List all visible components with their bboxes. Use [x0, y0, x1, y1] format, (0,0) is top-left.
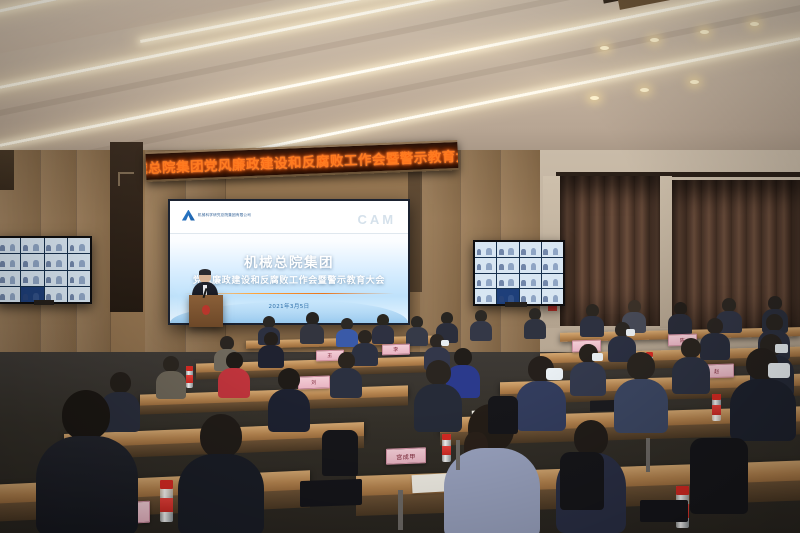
- downlight: [600, 46, 609, 50]
- video-cell: [542, 274, 563, 289]
- nameplate: 宫成甲: [386, 447, 426, 465]
- desk-leg: [398, 490, 403, 530]
- video-cell: [45, 254, 67, 269]
- attendee-body: [178, 454, 264, 533]
- attendee-head: [768, 296, 782, 310]
- video-cell: [475, 274, 496, 289]
- speaker-hair: [199, 269, 211, 275]
- downlight: [640, 88, 649, 92]
- face-mask: [441, 340, 449, 346]
- attendee-body: [470, 321, 492, 341]
- attendee-head: [426, 360, 451, 385]
- monitor-stand: [34, 300, 54, 305]
- face-mask: [626, 329, 635, 336]
- attendee: [524, 308, 546, 338]
- video-cell: [542, 258, 563, 273]
- video-cell: [497, 274, 518, 289]
- attendee-body: [672, 357, 710, 394]
- water-bottle: [186, 366, 193, 388]
- nameplate-text: 李: [393, 346, 399, 353]
- right-video-wall: [473, 240, 565, 306]
- attendee-head: [163, 356, 179, 372]
- slide-title: 机械总院集团: [170, 251, 408, 271]
- video-cell: [0, 238, 20, 253]
- company-logo-icon: [182, 210, 195, 221]
- chair: [488, 396, 518, 434]
- chair: [690, 438, 748, 514]
- attendee-head: [338, 352, 355, 369]
- attendee-body: [570, 362, 606, 396]
- attendee-body: [668, 314, 692, 335]
- attendee: [672, 338, 710, 392]
- wall-edge: [0, 150, 14, 190]
- attendee-head: [722, 298, 736, 312]
- nameplate-text: 赵: [714, 367, 720, 374]
- tote-bag: [640, 500, 688, 522]
- water-bottle: [160, 480, 173, 522]
- slide-logo-text: 机械科学研究总院集团有限公司: [198, 213, 251, 218]
- attendee-head: [278, 368, 300, 390]
- wall-bracket: [118, 172, 134, 174]
- video-cell: [542, 242, 563, 257]
- chair: [322, 430, 358, 476]
- video-cell: [542, 289, 563, 304]
- video-cell: [45, 238, 67, 253]
- attendee: [268, 368, 310, 430]
- video-cell: [520, 258, 541, 273]
- attendee-body: [36, 436, 138, 533]
- attendee-head: [200, 414, 242, 458]
- video-cell: [21, 254, 43, 269]
- chair: [560, 452, 604, 510]
- attendee-body: [156, 371, 186, 399]
- slide-logo: 机械科学研究总院集团有限公司: [182, 210, 251, 221]
- desk-leg: [646, 438, 650, 472]
- attendee: [300, 312, 324, 342]
- attendee-foreground: [36, 390, 138, 533]
- video-grid: [0, 238, 90, 302]
- attendee: [668, 302, 692, 334]
- attendee-body: [524, 319, 546, 339]
- laptop-bag: [300, 479, 362, 507]
- attendee-foreground: [178, 414, 264, 533]
- attendee-body: [580, 316, 604, 337]
- nameplate-text: 刘: [311, 379, 317, 386]
- wall-column: [110, 142, 143, 312]
- conference-hall-photo: 机械总院集团党风廉政建设和反腐败工作会暨警示教育大会 机械科学研究总院集团有限公…: [0, 0, 800, 533]
- video-cell: [475, 258, 496, 273]
- downlight: [650, 38, 659, 42]
- attendee-head: [627, 352, 655, 380]
- video-grid: [475, 242, 563, 304]
- video-cell: [21, 271, 43, 286]
- bottle-cap: [160, 480, 173, 489]
- bottle-label: [160, 498, 173, 512]
- attendee: [258, 332, 284, 366]
- bottle-cap: [676, 486, 689, 495]
- podium: [189, 295, 223, 327]
- attendee-body: [730, 379, 796, 441]
- video-cell: [68, 254, 90, 269]
- wall-bracket: [118, 172, 120, 186]
- downlight: [590, 96, 599, 100]
- video-cell: [520, 242, 541, 257]
- attendee-head: [226, 352, 243, 369]
- bottle-cap: [712, 394, 721, 400]
- face-mask: [592, 353, 603, 361]
- downlight: [700, 30, 709, 34]
- attendee: [614, 352, 668, 430]
- desk-leg: [456, 440, 460, 470]
- attendee-head: [681, 338, 701, 358]
- attendee: [218, 352, 250, 396]
- face-mask: [768, 363, 790, 378]
- attendee: [730, 348, 796, 438]
- left-video-wall: [0, 236, 92, 304]
- attendee-body: [300, 324, 324, 344]
- podium-emblem: [202, 305, 210, 315]
- attendee-head: [358, 330, 372, 344]
- bottle-cap: [186, 366, 193, 371]
- attendee-body: [268, 389, 310, 432]
- attendee-body: [218, 368, 250, 398]
- attendee-head: [574, 420, 608, 456]
- bottle-label: [712, 405, 721, 414]
- video-cell: [475, 289, 496, 304]
- attendee-head: [766, 314, 783, 331]
- attendee-body: [258, 345, 284, 368]
- video-cell: [21, 238, 43, 253]
- video-cell: [68, 287, 90, 302]
- attendee: [580, 304, 604, 336]
- attendee: [470, 310, 492, 340]
- video-cell: [475, 242, 496, 257]
- slide-watermark: CAM: [358, 212, 397, 227]
- attendee-head: [62, 390, 110, 440]
- bottle-label: [186, 375, 193, 382]
- nameplate-text: 宫成甲: [396, 451, 416, 461]
- video-cell: [0, 287, 20, 302]
- video-cell: [45, 271, 67, 286]
- video-cell: [68, 238, 90, 253]
- water-bottle: [712, 394, 721, 421]
- face-mask: [546, 368, 563, 380]
- attendee: [156, 356, 186, 396]
- attendee-head: [220, 336, 234, 350]
- downlight: [750, 22, 759, 26]
- downlight: [690, 80, 699, 84]
- video-cell: [0, 254, 20, 269]
- video-cell: [497, 258, 518, 273]
- attendee-head: [707, 318, 723, 334]
- video-cell: [68, 271, 90, 286]
- video-cell: [497, 242, 518, 257]
- video-cell: [520, 274, 541, 289]
- video-cell: [0, 271, 20, 286]
- attendee: [330, 352, 362, 396]
- attendee-body: [330, 368, 362, 398]
- nameplate: 李: [382, 344, 410, 356]
- attendee-head: [264, 332, 278, 346]
- attendee: [570, 344, 606, 394]
- monitor-stand: [505, 302, 527, 307]
